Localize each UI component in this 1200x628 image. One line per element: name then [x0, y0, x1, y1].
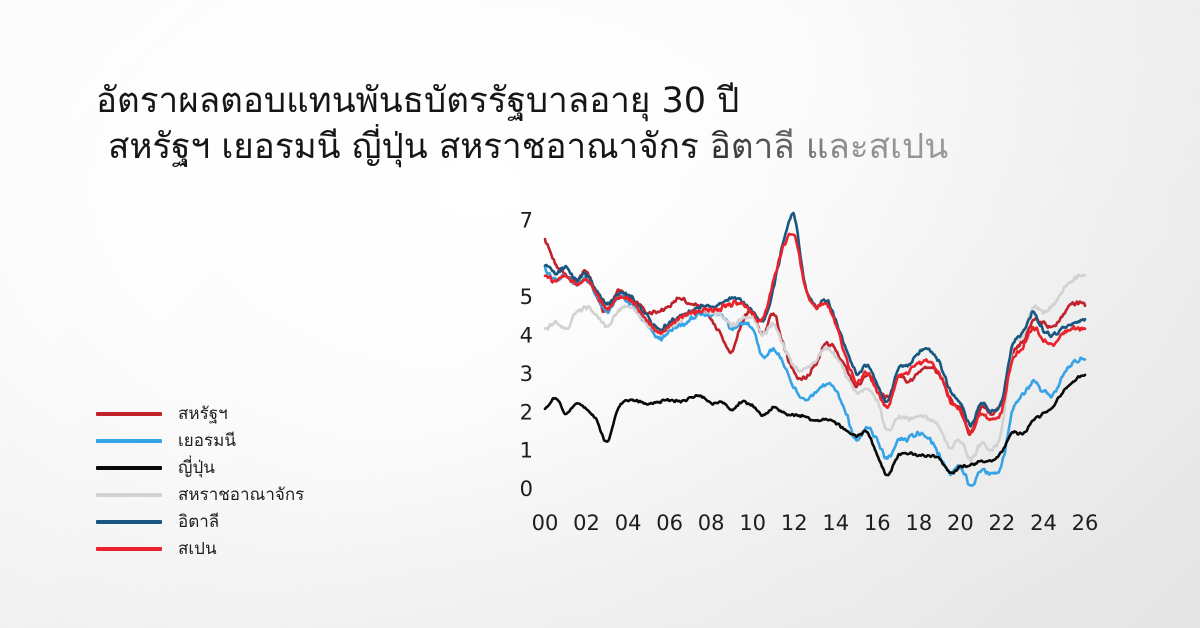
title-line-2: สหรัฐฯ เยอรมนี ญี่ปุ่น สหราชอาณาจักร อิต…: [96, 124, 1106, 170]
legend-item-label: อิตาลี: [178, 511, 219, 533]
legend-item[interactable]: ญี่ปุ่น: [96, 454, 304, 481]
y-axis-tick-label: 3: [520, 362, 533, 386]
x-axis-tick-label: 00: [532, 511, 559, 535]
legend-item-label: สหราชอาณาจักร: [178, 484, 304, 506]
legend-swatch-icon: [96, 412, 162, 416]
chart-page: อัตราผลตอบแทนพันธบัตรรัฐบาลอายุ 30 ปี สห…: [0, 0, 1200, 628]
legend-item[interactable]: สหราชอาณาจักร: [96, 481, 304, 508]
legend-swatch-icon: [96, 439, 162, 443]
x-axis-tick-label: 12: [781, 511, 808, 535]
legend-item-label: เยอรมนี: [178, 430, 236, 452]
x-axis-tick-label: 08: [698, 511, 725, 535]
legend-swatch-icon: [96, 493, 162, 497]
x-axis-tick-label: 04: [615, 511, 642, 535]
y-axis-tick-label: 2: [520, 400, 533, 424]
x-axis-tick-label: 06: [656, 511, 683, 535]
x-axis-tick-label: 16: [864, 511, 891, 535]
page-title: อัตราผลตอบแทนพันธบัตรรัฐบาลอายุ 30 ปี สห…: [96, 78, 1106, 170]
legend-item[interactable]: เยอรมนี: [96, 427, 304, 454]
legend-item[interactable]: สเปน: [96, 535, 304, 562]
x-axis-tick-label: 20: [947, 511, 974, 535]
y-axis-tick-label: 5: [520, 285, 533, 309]
y-axis-tick-label: 1: [520, 439, 533, 463]
x-axis-tick-label: 18: [905, 511, 932, 535]
x-axis-tick-label: 22: [989, 511, 1016, 535]
y-axis-tick-label: 7: [520, 209, 533, 233]
legend-item-label: ญี่ปุ่น: [178, 457, 215, 479]
x-axis-tick-label: 02: [573, 511, 600, 535]
x-axis-ticks: 0002040608101214161820222426: [532, 511, 1099, 535]
legend-item[interactable]: อิตาลี: [96, 508, 304, 535]
legend-swatch-icon: [96, 466, 162, 470]
legend-swatch-icon: [96, 547, 162, 551]
line-chart: 0123457 0002040608101214161820222426: [495, 190, 1095, 550]
y-axis-tick-label: 4: [520, 324, 533, 348]
x-axis-tick-label: 24: [1030, 511, 1057, 535]
series-line-6: [545, 234, 1085, 435]
legend-item-label: สเปน: [178, 538, 217, 560]
legend-item[interactable]: สหรัฐฯ: [96, 400, 304, 427]
legend-swatch-icon: [96, 520, 162, 524]
legend-item-label: สหรัฐฯ: [178, 403, 228, 425]
x-axis-tick-label: 26: [1072, 511, 1099, 535]
title-line-1: อัตราผลตอบแทนพันธบัตรรัฐบาลอายุ 30 ปี: [96, 78, 1106, 124]
chart-legend: สหรัฐฯเยอรมนีญี่ปุ่นสหราชอาณาจักรอิตาลีส…: [96, 400, 304, 562]
y-axis-ticks: 0123457: [520, 209, 533, 501]
series-lines: [545, 213, 1085, 486]
chart-svg: 0123457 0002040608101214161820222426: [495, 190, 1095, 550]
x-axis-tick-label: 14: [822, 511, 849, 535]
x-axis-tick-label: 10: [739, 511, 766, 535]
y-axis-tick-label: 0: [520, 477, 533, 501]
